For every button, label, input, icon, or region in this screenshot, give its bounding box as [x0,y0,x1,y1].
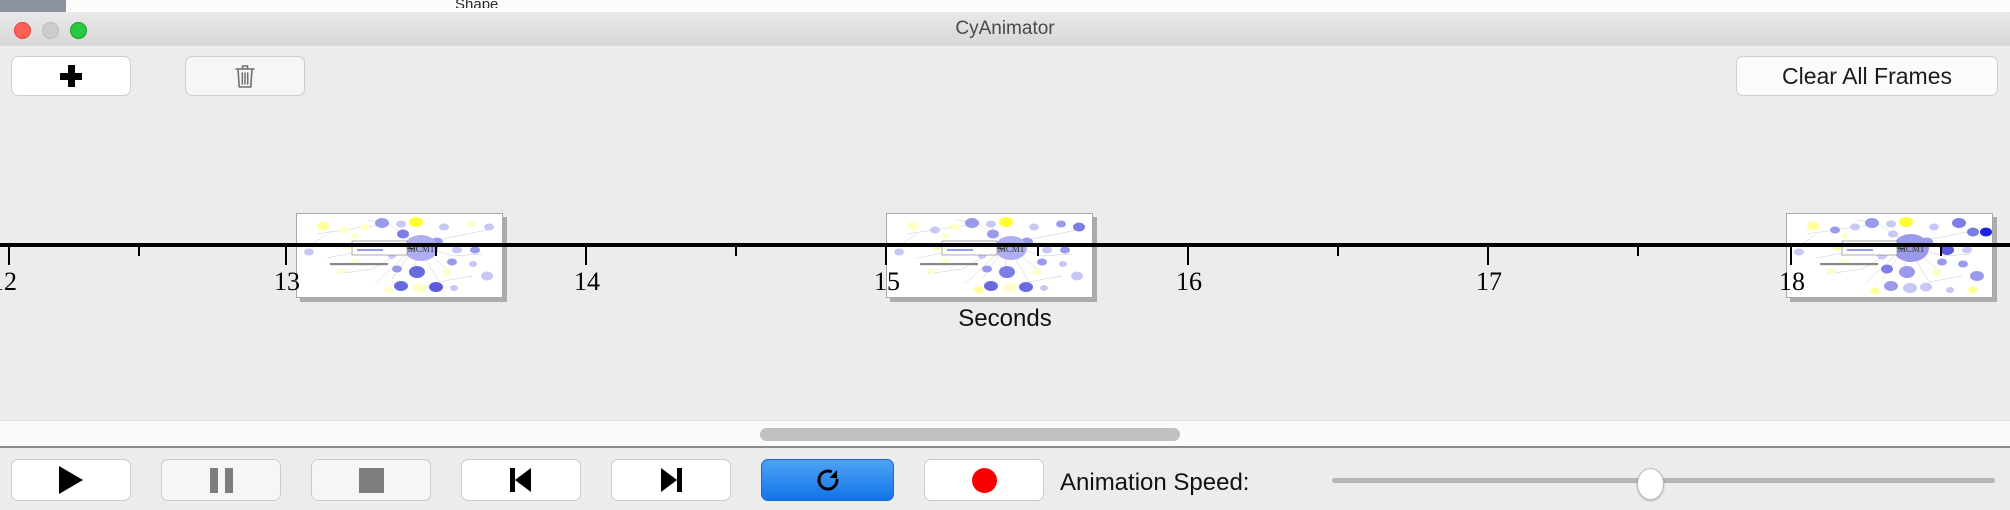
window-title: CyAnimator [0,12,2010,46]
axis-tick [1037,247,1039,256]
stop-button[interactable] [311,459,431,501]
add-frame-button[interactable] [11,56,131,96]
bg-tab [1875,0,1944,12]
delete-frame-button[interactable] [185,56,305,96]
plus-icon [60,65,82,87]
animation-speed-slider-thumb[interactable] [1637,468,1664,500]
stop-icon [359,468,384,493]
skip-back-icon [508,467,534,493]
axis-tick [885,247,887,265]
skip-back-button[interactable] [461,459,581,501]
playback-controls: Animation Speed: [0,446,2010,510]
axis-title: Seconds [0,305,2010,333]
skip-forward-button[interactable] [611,459,731,501]
axis-tick [1940,247,1942,256]
axis-tick [1637,247,1639,256]
record-icon [972,468,997,493]
axis-tick [735,247,737,256]
axis-tick-label: 17 [1476,267,1502,297]
axis-tick [285,247,287,265]
clear-all-frames-button[interactable]: Clear All Frames [1736,56,1998,96]
bg-tab [188,0,244,12]
skip-forward-icon [658,467,684,493]
axis-tick [138,247,140,256]
bg-tab [0,0,67,12]
axis-tick [1337,247,1339,256]
axis-line [0,243,2010,247]
axis-tick [1487,247,1489,265]
record-button[interactable] [924,459,1044,501]
bg-tab [997,0,1808,12]
timeline-scrollbar[interactable] [0,420,2010,447]
bg-tab [301,0,394,12]
bg-tab [1807,0,1876,12]
pause-button[interactable] [161,459,281,501]
axis-tick-label: 16 [1176,267,1202,297]
timeline-axis: 12 13 14 15 16 17 18 Seconds [0,243,2010,353]
bg-tab [243,0,302,12]
bg-tab [66,0,189,12]
loop-icon [813,465,843,495]
title-bar: CyAnimator [0,12,2010,47]
axis-tick-label: 14 [574,267,600,297]
axis-tick-label: 18 [1779,267,1805,297]
frame-toolbar: Clear All Frames [0,46,2010,111]
bg-tab [1943,0,2010,12]
axis-tick-label: 15 [874,267,900,297]
background-window-label: Shape [455,0,498,8]
timeline-scrollbar-thumb[interactable] [760,428,1180,441]
timeline-panel[interactable]: MCM1 [0,109,2010,420]
bg-tab [949,0,998,12]
axis-tick [8,247,10,265]
pause-icon [210,468,233,493]
loop-button[interactable] [761,459,894,501]
trash-icon [234,63,256,89]
cyanimator-window: Shape CyAnimator Clear All Frames [0,0,2010,510]
bg-tab [901,0,950,12]
axis-tick-label: 12 [0,267,17,297]
play-button[interactable] [11,459,131,501]
axis-tick [1790,247,1792,265]
axis-tick [435,247,437,256]
animation-speed-label: Animation Speed: [1060,469,1249,497]
axis-tick-label: 13 [274,267,300,297]
axis-tick [1187,247,1189,265]
play-icon [59,466,83,494]
axis-tick [585,247,587,265]
